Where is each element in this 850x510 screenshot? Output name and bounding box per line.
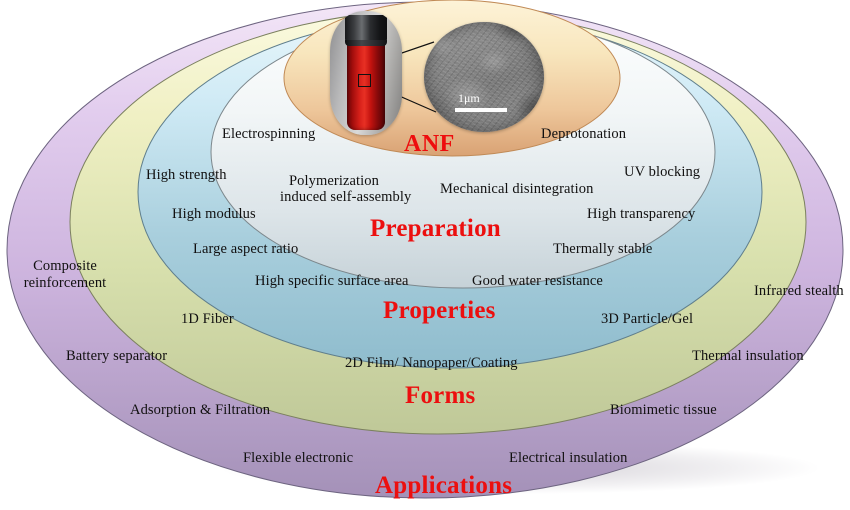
anf-center-title: ANF bbox=[404, 131, 455, 158]
label-composite-line1: Composite bbox=[33, 258, 97, 274]
label-high-specific-surface-area: High specific surface area bbox=[255, 273, 409, 289]
label-polymerization-line2: induced self-assembly bbox=[280, 189, 411, 205]
label-infrared-stealth: Infrared stealth bbox=[754, 283, 844, 299]
ring-title-properties: Properties bbox=[383, 297, 496, 325]
label-biomimetic-tissue: Biomimetic tissue bbox=[610, 402, 717, 418]
label-composite-reinforcement: Composite reinforcement bbox=[18, 258, 112, 291]
label-flexible-electronic: Flexible electronic bbox=[243, 450, 353, 466]
label-large-aspect-ratio: Large aspect ratio bbox=[193, 241, 298, 257]
label-polymerization-line1: Polymerization bbox=[289, 173, 379, 189]
ring-title-preparation: Preparation bbox=[370, 215, 501, 243]
label-electrospinning: Electrospinning bbox=[222, 126, 315, 142]
label-1d-fiber: 1D Fiber bbox=[181, 311, 234, 327]
label-2d-film: 2D Film/ Nanopaper/Coating bbox=[345, 355, 518, 371]
label-3d-particle-gel: 3D Particle/Gel bbox=[601, 311, 693, 327]
ring-title-forms: Forms bbox=[405, 382, 475, 410]
scale-bar bbox=[455, 108, 507, 112]
label-good-water-resistance: Good water resistance bbox=[472, 273, 603, 289]
anf-dispersion-vial-photo bbox=[330, 11, 402, 135]
sem-vignette bbox=[424, 22, 544, 132]
label-uv-blocking: UV blocking bbox=[624, 164, 700, 180]
label-battery-separator: Battery separator bbox=[66, 348, 167, 364]
vial-zoom-marker bbox=[358, 74, 371, 87]
ring-title-applications: Applications bbox=[375, 472, 512, 500]
label-composite-line2: reinforcement bbox=[24, 275, 107, 291]
label-mechanical-disintegration: Mechanical disintegration bbox=[440, 181, 594, 197]
label-thermal-insulation: Thermal insulation bbox=[692, 348, 804, 364]
label-high-strength: High strength bbox=[146, 167, 227, 183]
figure-canvas: 1μm ANF Preparation Properties Forms App… bbox=[0, 0, 850, 510]
label-high-modulus: High modulus bbox=[172, 206, 256, 222]
scale-bar-label: 1μm bbox=[458, 91, 480, 106]
vial-cap bbox=[345, 15, 387, 42]
label-deprotonation: Deprotonation bbox=[541, 126, 626, 142]
label-adsorption-filtration: Adsorption & Filtration bbox=[130, 402, 270, 418]
sem-micrograph: 1μm bbox=[424, 22, 544, 132]
label-electrical-insulation: Electrical insulation bbox=[509, 450, 627, 466]
label-thermally-stable: Thermally stable bbox=[553, 241, 652, 257]
label-high-transparency: High transparency bbox=[587, 206, 695, 222]
